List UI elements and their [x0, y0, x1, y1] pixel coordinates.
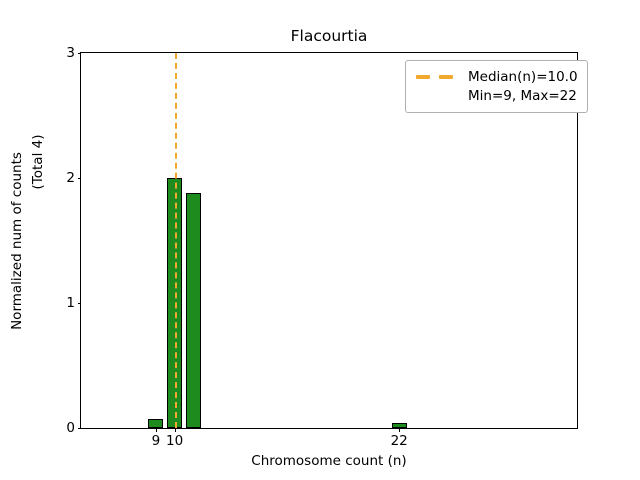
chart-title: Flacourtia [80, 27, 578, 45]
figure: Flacourtia Normalized num of counts (Tot… [0, 0, 640, 480]
x-tick-mark [399, 428, 400, 432]
legend-item-median: Median(n)=10.0 [415, 67, 578, 86]
legend-item-minmax: Min=9, Max=22 [415, 86, 578, 105]
y-tick-mark [78, 178, 82, 179]
y-tick-mark [78, 428, 82, 429]
x-tick-label: 10 [166, 433, 183, 449]
y-tick-mark [78, 303, 82, 304]
x-tick-mark [156, 428, 157, 432]
y-tick-mark [78, 53, 82, 54]
y-axis-label: Normalized num of counts [9, 152, 25, 330]
dashed-line-icon [415, 71, 459, 83]
legend-label-median: Median(n)=10.0 [468, 69, 578, 85]
y-tick-label: 0 [66, 420, 75, 436]
y-tick-label: 1 [66, 295, 75, 311]
x-tick-mark [175, 428, 176, 432]
x-tick-label: 22 [391, 433, 408, 449]
blank-swatch-icon [415, 90, 459, 102]
y-axis-sublabel: (Total 4) [30, 135, 46, 190]
median-line [175, 53, 177, 428]
x-axis-label: Chromosome count (n) [80, 453, 578, 469]
y-tick-label: 2 [66, 170, 75, 186]
legend: Median(n)=10.0 Min=9, Max=22 [405, 60, 588, 113]
x-tick-label: 9 [152, 433, 161, 449]
y-axis-sublabel-container: (Total 4) [26, 52, 50, 272]
y-tick-label: 3 [66, 45, 75, 61]
legend-label-minmax: Min=9, Max=22 [468, 88, 577, 104]
